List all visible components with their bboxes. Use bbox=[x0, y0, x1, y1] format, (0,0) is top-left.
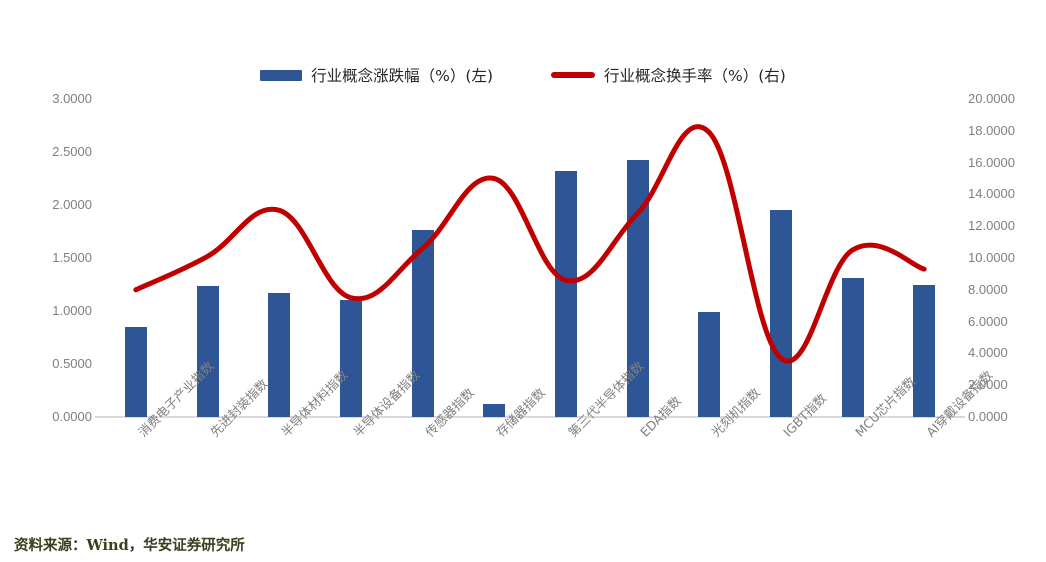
right-axis-tick-label: 16.0000 bbox=[968, 155, 1046, 170]
left-axis-tick-label: 1.0000 bbox=[0, 303, 92, 318]
right-axis-tick-label: 18.0000 bbox=[968, 123, 1046, 138]
left-axis-tick-label: 2.5000 bbox=[0, 144, 92, 159]
right-axis-tick-label: 4.0000 bbox=[968, 345, 1046, 360]
line-series-group bbox=[100, 99, 960, 417]
legend-label-bar-series: 行业概念涨跌幅（%）(左) bbox=[311, 64, 493, 86]
legend-item-line-series: 行业概念换手率（%）(右) bbox=[551, 64, 786, 86]
bar-series-swatch-icon bbox=[260, 70, 302, 81]
source-note: 资料来源：Wind，华安证券研究所 bbox=[14, 534, 245, 555]
category-axis-labels: 消费电子产业指数先进封装指数半导体材料指数半导体设备指数传感器指数存储器指数第三… bbox=[0, 417, 1046, 527]
left-axis-tick-label: 2.0000 bbox=[0, 197, 92, 212]
line-series-svg bbox=[100, 99, 960, 417]
right-axis-tick-label: 14.0000 bbox=[968, 186, 1046, 201]
right-axis-tick-label: 6.0000 bbox=[968, 314, 1046, 329]
right-axis-tick-label: 12.0000 bbox=[968, 218, 1046, 233]
left-axis-tick-label: 1.5000 bbox=[0, 250, 92, 265]
chart-figure: 行业概念涨跌幅（%）(左) 行业概念换手率（%）(右) 3.00002.5000… bbox=[0, 0, 1046, 562]
legend-item-bar-series: 行业概念涨跌幅（%）(左) bbox=[260, 64, 493, 86]
chart-legend: 行业概念涨跌幅（%）(左) 行业概念换手率（%）(右) bbox=[0, 58, 1046, 92]
left-axis-tick-label: 3.0000 bbox=[0, 91, 92, 106]
right-axis-tick-label: 20.0000 bbox=[968, 91, 1046, 106]
left-axis-tick-label: 0.5000 bbox=[0, 356, 92, 371]
legend-label-line-series: 行业概念换手率（%）(右) bbox=[604, 64, 786, 86]
right-axis-tick-label: 8.0000 bbox=[968, 282, 1046, 297]
line-series-swatch-icon bbox=[551, 72, 595, 78]
plot-area bbox=[100, 99, 960, 417]
right-axis-tick-label: 10.0000 bbox=[968, 250, 1046, 265]
line-series-path bbox=[136, 127, 924, 362]
